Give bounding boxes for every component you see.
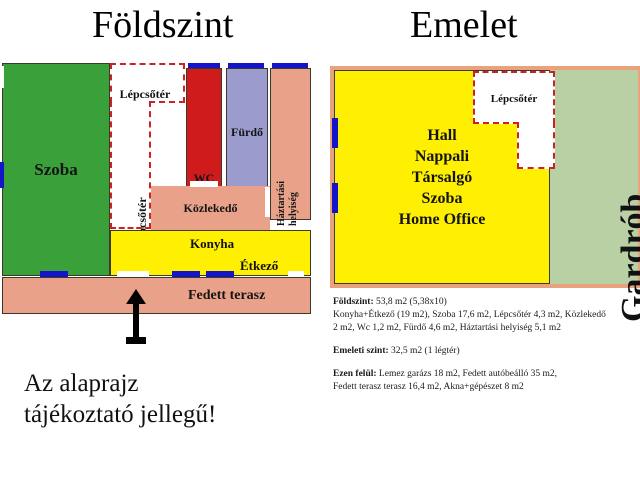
haztartasi-line-1: Háztartási	[276, 181, 288, 226]
window-marker-upper-left-1	[332, 118, 338, 148]
specs-extra-line-1: Lemez garázs 18 m2, Fedett autóbeálló 35…	[377, 369, 557, 379]
window-marker-left-middle	[0, 162, 4, 188]
window-marker-bottom-szoba	[40, 271, 68, 277]
room-label-haztartasi-helyiseg: Háztartási helyiség	[276, 181, 300, 226]
room-lepcsoter-upper: Lépcsőtér	[473, 71, 555, 124]
specs-spacer-2	[333, 358, 640, 368]
upper-room-line-4: Szoba	[422, 188, 463, 209]
door-opening-haztartasi	[265, 187, 270, 217]
specs-extra-label: Ezen felül:	[333, 369, 377, 379]
haztartasi-line-2: helyiség	[288, 181, 300, 226]
stairwell-outline-seam-upper	[473, 122, 519, 124]
page-title-upper-floor: Emelet	[410, 6, 518, 44]
window-marker-top-furdo	[228, 63, 264, 68]
door-opening-wc	[190, 181, 218, 187]
door-opening-entrance	[117, 271, 149, 277]
stairwell-outline-lower-upper	[517, 122, 555, 169]
window-marker-bottom-konyha-2	[206, 271, 234, 277]
specs-extra-heading: Ezen felül: Lemez garázs 18 m2, Fedett a…	[333, 368, 640, 381]
specs-upper-label: Emeleti szint:	[333, 346, 389, 356]
upper-room-line-2: Nappali	[415, 146, 469, 167]
room-label-etkezo: Étkező	[240, 258, 278, 274]
room-fedett-terasz: Fedett terasz	[2, 277, 311, 314]
door-opening-bottom-right	[288, 271, 304, 277]
ground-floor-plan: Szoba Lépcsőtér Lépcsőtér WC Fürdő Házta…	[0, 62, 313, 288]
specs-upper-heading: Emeleti szint: 32,5 m2 (1 légtér)	[333, 345, 640, 358]
stairwell-outline-lower-ground	[110, 101, 151, 229]
area-specifications: Földszint: 53,8 m2 (5,38x10) Konyha+Étke…	[333, 296, 640, 394]
disclaimer-note: Az alaprajz tájékoztató jellegű!	[24, 368, 216, 430]
room-szoba: Szoba	[2, 63, 110, 276]
disclaimer-line-2: tájékoztató jellegű!	[24, 399, 216, 430]
room-kozlekedo: Közlekedő	[151, 186, 270, 230]
specs-ground-heading: Földszint: 53,8 m2 (5,38x10)	[333, 296, 640, 309]
window-marker-upper-left-2	[332, 183, 338, 213]
specs-upper-value: 32,5 m2 (1 légtér)	[389, 346, 460, 356]
stairwell-outline-seam-ground	[149, 101, 185, 105]
window-opening-left-top	[0, 66, 4, 88]
upper-room-line-5: Home Office	[399, 209, 486, 230]
room-label-konyha: Konyha	[190, 236, 234, 252]
specs-ground-detail-2: 2 m2, Wc 1,2 m2, Fürdő 4,6 m2, Háztartás…	[333, 322, 640, 335]
specs-ground-label: Földszint:	[333, 297, 374, 307]
page-title-ground-floor: Földszint	[92, 6, 233, 44]
specs-spacer-1	[333, 335, 640, 345]
upper-floor-plan: Hall Nappali Társalgó Szoba Home Office …	[330, 66, 640, 288]
window-marker-bottom-konyha-1	[172, 271, 200, 277]
room-wc: WC	[186, 68, 222, 187]
window-marker-top-wc	[188, 63, 220, 68]
specs-ground-value: 53,8 m2 (5,38x10)	[374, 297, 447, 307]
specs-ground-detail-1: Konyha+Étkező (19 m2), Szoba 17,6 m2, Lé…	[333, 309, 640, 322]
specs-extra-line-2: Fedett terasz terasz 16,4 m2, Akna+gépés…	[333, 381, 640, 394]
window-marker-top-haztartasi	[272, 63, 308, 68]
stairwell-outline-upper-ground	[110, 63, 185, 103]
upper-room-line-3: Társalgó	[412, 167, 472, 188]
upper-room-line-1: Hall	[427, 125, 456, 146]
entrance-arrow-icon	[126, 289, 146, 344]
disclaimer-line-1: Az alaprajz	[24, 368, 216, 399]
